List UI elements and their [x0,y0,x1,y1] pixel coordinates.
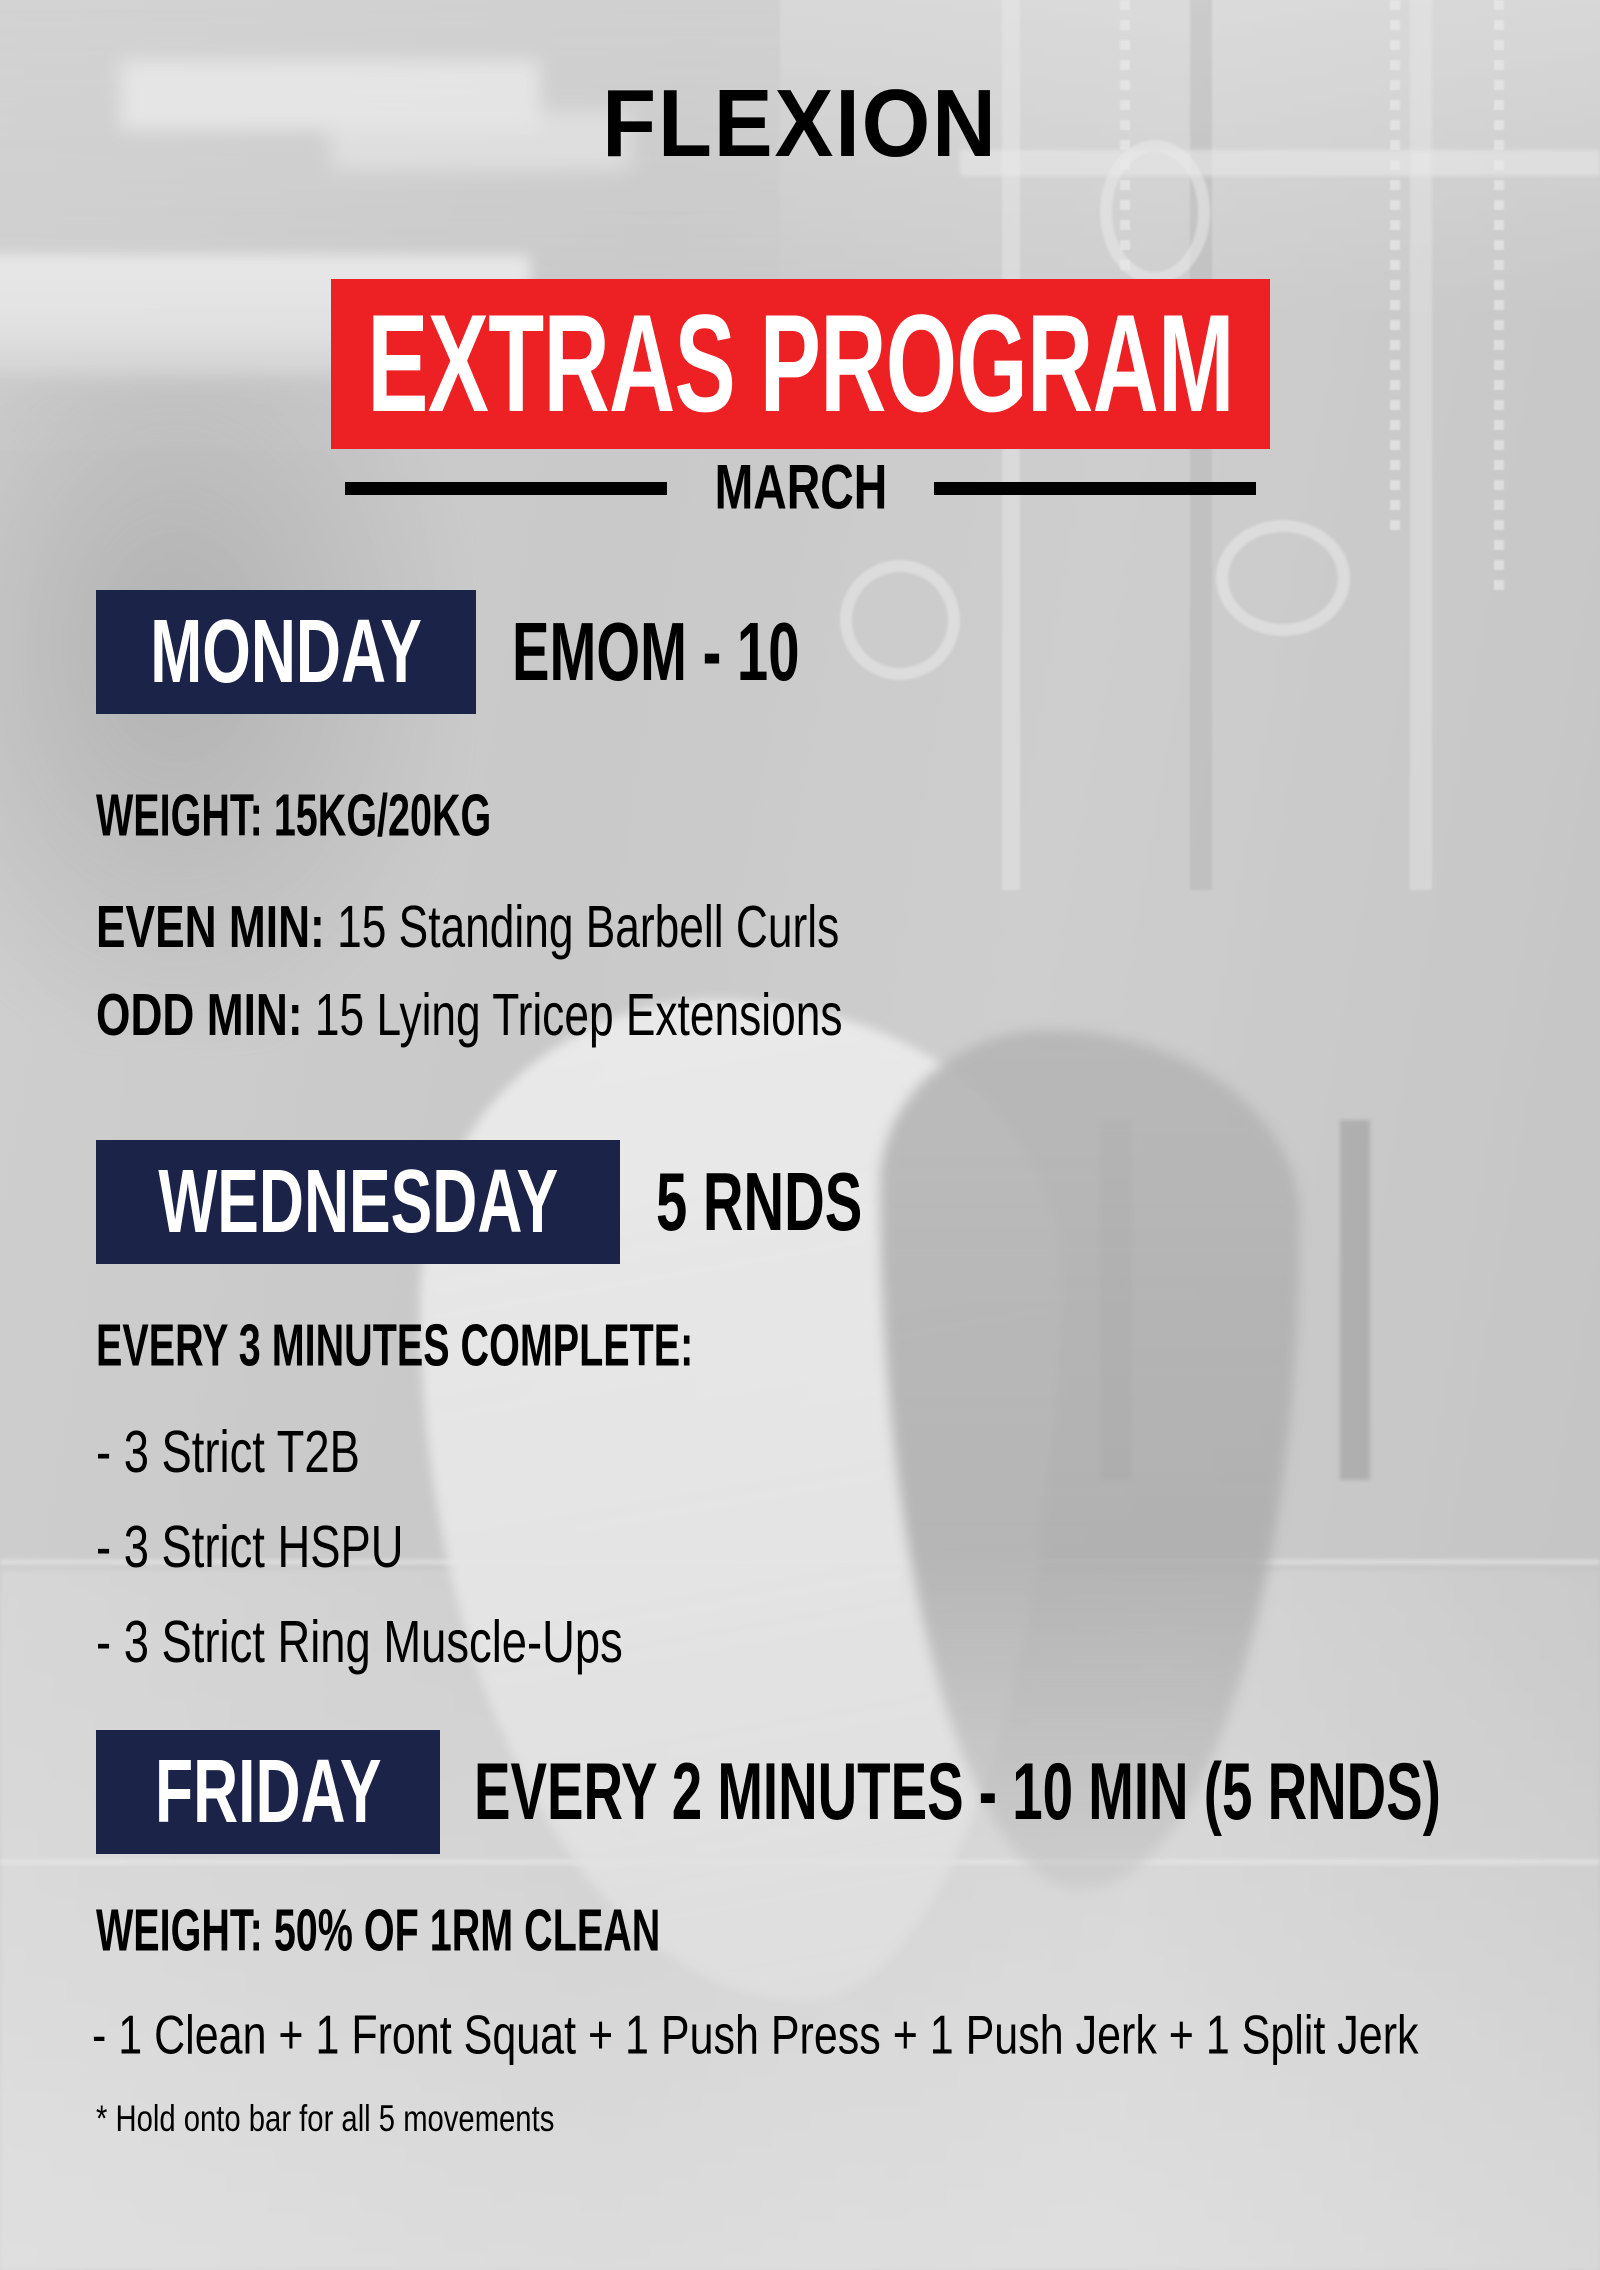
friday-note-line: * Hold onto bar for all 5 movements [96,2102,629,2136]
monday-weight-line: WEIGHT: 15KG/20KG [96,790,616,842]
poster: FLEXION EXTRAS PROGRAM MARCH MONDAY EMOM… [0,0,1600,2270]
day-tag-wednesday-label: WEDNESDAY [158,1157,558,1247]
brand-logo: FLEXION [64,76,1536,172]
monday-even-inner: EVEN MIN: 15 Standing Barbell Curls [96,897,839,956]
day-row-monday: MONDAY EMOM - 10 [96,590,890,714]
day-tag-monday: MONDAY [96,590,476,714]
month-label: MARCH [714,457,887,520]
wednesday-item-1-text: - 3 Strict T2B [96,1422,360,1481]
wednesday-item-3-text: - 3 Strict Ring Muscle-Ups [96,1612,623,1671]
wednesday-heading-text: EVERY 3 MINUTES COMPLETE: [96,1316,693,1375]
poster-content: FLEXION EXTRAS PROGRAM MARCH MONDAY EMOM… [0,0,1600,2270]
wednesday-item-2: - 3 Strict HSPU [96,1520,462,1574]
day-row-wednesday: WEDNESDAY 5 RNDS [96,1140,927,1264]
wednesday-item-2-text: - 3 Strict HSPU [96,1517,403,1576]
day-format-monday-label: EMOM - 10 [512,611,799,694]
day-format-friday-label: EVERY 2 MINUTES - 10 MIN (5 RNDS) [474,1752,1441,1833]
monday-even-line: EVEN MIN: 15 Standing Barbell Curls [96,900,1002,954]
program-title-text: EXTRAS PROGRAM [367,295,1234,434]
program-title-banner: EXTRAS PROGRAM [331,279,1270,449]
month-row: MARCH [331,459,1270,517]
monday-odd-text: 15 Lying Tricep Extensions [303,982,843,1048]
day-row-friday: FRIDAY EVERY 2 MINUTES - 10 MIN (5 RNDS) [96,1730,1600,1854]
month-rule-left [345,482,667,495]
monday-even-label: EVEN MIN: [96,894,325,960]
monday-even-text: 15 Standing Barbell Curls [325,894,839,960]
day-tag-wednesday: WEDNESDAY [96,1140,620,1264]
day-tag-monday-label: MONDAY [150,607,422,697]
day-tag-friday: FRIDAY [96,1730,440,1854]
day-format-wednesday: 5 RNDS [656,1165,927,1239]
day-tag-friday-label: FRIDAY [155,1747,382,1837]
monday-odd-label: ODD MIN: [96,982,303,1048]
friday-note-text: * Hold onto bar for all 5 movements [96,2100,554,2137]
friday-weight-line: WEIGHT: 50% OF 1RM CLEAN [96,1905,839,1957]
day-format-wednesday-label: 5 RNDS [656,1161,862,1244]
wednesday-item-3: - 3 Strict Ring Muscle-Ups [96,1615,723,1669]
monday-weight-text: WEIGHT: 15KG/20KG [96,786,491,845]
friday-movement-line: - 1 Clean + 1 Front Squat + 1 Push Press… [92,2010,1600,2060]
wednesday-item-1: - 3 Strict T2B [96,1425,410,1479]
day-format-monday: EMOM - 10 [512,615,890,689]
friday-movement-text: - 1 Clean + 1 Front Squat + 1 Push Press… [92,2008,1419,2063]
day-format-friday: EVERY 2 MINUTES - 10 MIN (5 RNDS) [474,1756,1600,1828]
friday-weight-text: WEIGHT: 50% OF 1RM CLEAN [96,1901,660,1960]
monday-odd-line: ODD MIN: 15 Lying Tricep Extensions [96,988,1006,1042]
monday-odd-inner: ODD MIN: 15 Lying Tricep Extensions [96,985,842,1044]
wednesday-heading-line: EVERY 3 MINUTES COMPLETE: [96,1320,882,1372]
month-rule-right [934,482,1256,495]
